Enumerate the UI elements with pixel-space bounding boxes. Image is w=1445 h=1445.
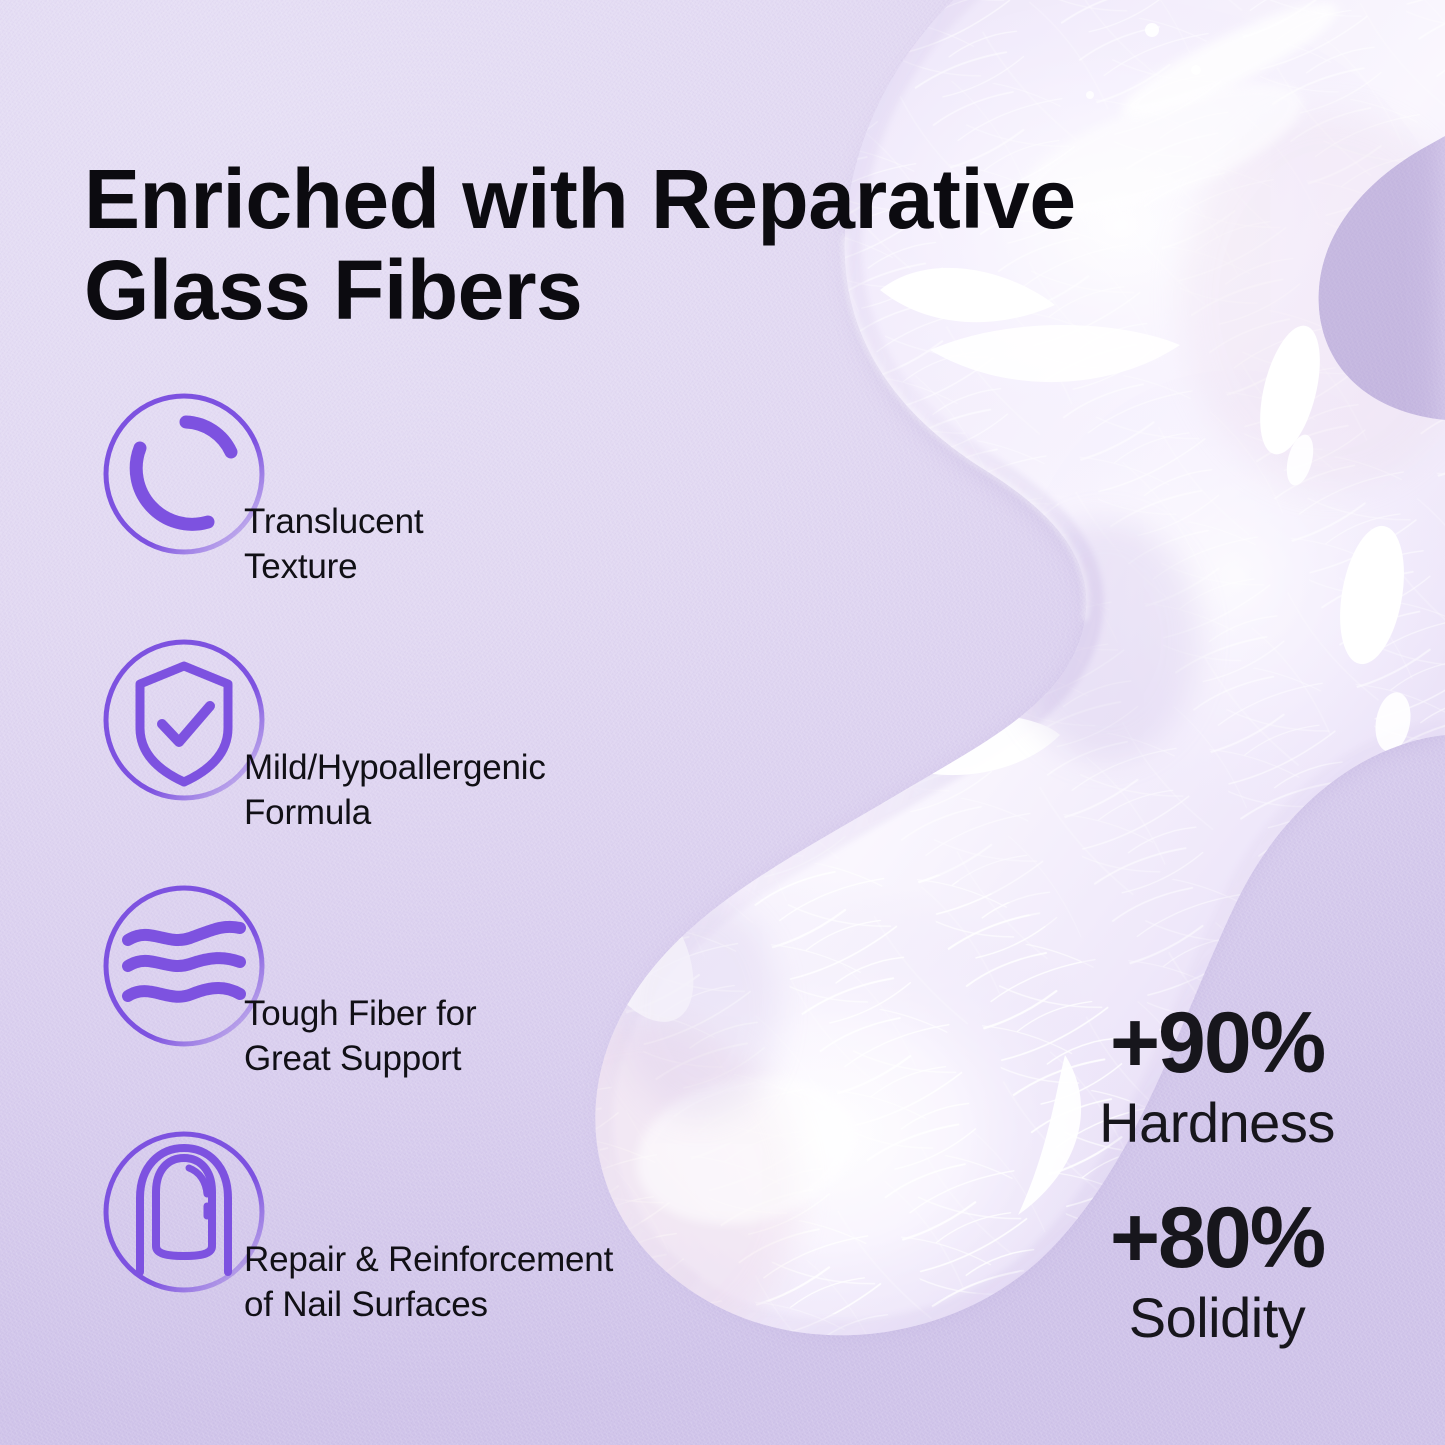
stat-hardness: +90% Hardness	[1067, 1000, 1367, 1155]
stat-value: +80%	[1067, 1195, 1367, 1281]
stat-caption: Hardness	[1067, 1092, 1367, 1155]
feature-list: Translucent Texture	[86, 384, 706, 1368]
stat-block: +90% Hardness +80% Solidity	[1067, 1000, 1367, 1349]
feature-item-nail-repair: Repair & Reinforcement of Nail Surfaces	[86, 1122, 706, 1368]
feature-item-tough-fiber: Tough Fiber for Great Support	[86, 876, 706, 1122]
feature-label: Mild/Hypoallergenic Formula	[244, 746, 714, 836]
feature-item-hypoallergenic-formula: Mild/Hypoallergenic Formula	[86, 630, 706, 876]
page-title: Enriched with Reparative Glass Fibers	[84, 154, 1234, 335]
stat-solidity: +80% Solidity	[1067, 1195, 1367, 1350]
feature-label: Repair & Reinforcement of Nail Surfaces	[244, 1238, 714, 1328]
feature-item-translucent-texture: Translucent Texture	[86, 384, 706, 630]
feature-label: Translucent Texture	[244, 500, 714, 590]
stat-value: +90%	[1067, 1000, 1367, 1086]
stat-caption: Solidity	[1067, 1287, 1367, 1350]
feature-label: Tough Fiber for Great Support	[244, 992, 714, 1082]
product-feature-banner: Enriched with Reparative Glass Fibers	[0, 0, 1445, 1445]
